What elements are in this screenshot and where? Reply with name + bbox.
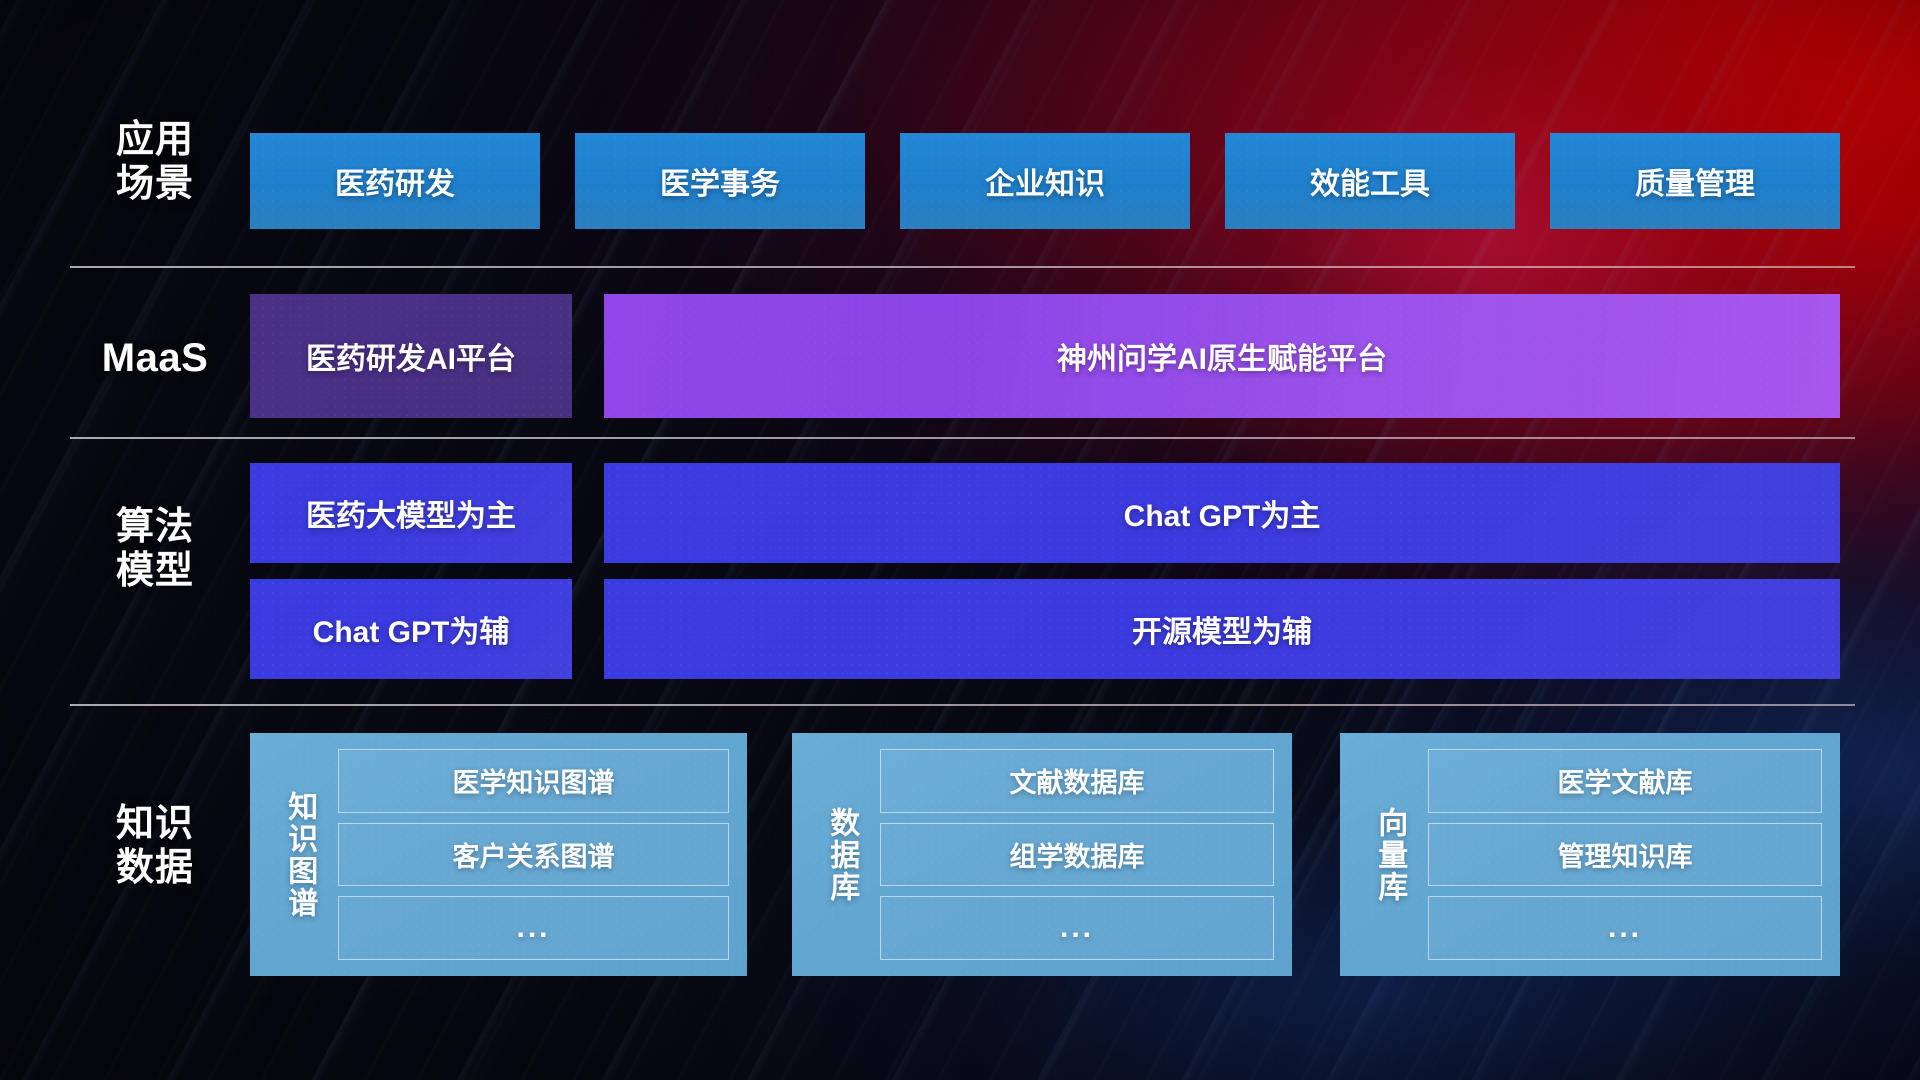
maas-box-medicine-rnd-ai-platform[interactable]: 医药研发AI平台 [250, 294, 572, 418]
maas-box-label: 神州问学AI原生赋能平台 [1057, 334, 1387, 378]
app-box-label: 医药研发 [335, 159, 455, 203]
algo-box-label: 医药大模型为主 [306, 491, 516, 535]
app-box-quality-management[interactable]: 质量管理 [1550, 133, 1840, 229]
knowledge-group-vector-store[interactable]: 向量库 医学文献库 管理知识库 ... [1340, 733, 1840, 976]
knowledge-group-title: 数据库 [810, 807, 872, 903]
app-box-medicine-rnd[interactable]: 医药研发 [250, 133, 540, 229]
row-label-knowledge-data: 知识 数据 [70, 802, 240, 890]
knowledge-item-more[interactable]: ... [338, 896, 729, 960]
algo-box-label: Chat GPT为辅 [313, 607, 510, 651]
app-box-label: 质量管理 [1635, 159, 1755, 203]
algo-box-label: Chat GPT为主 [1124, 491, 1321, 535]
knowledge-group-item-list: 文献数据库 组学数据库 ... [880, 743, 1278, 966]
maas-box-shenzhou-wenxue-platform[interactable]: 神州问学AI原生赋能平台 [604, 294, 1840, 418]
knowledge-item-more[interactable]: ... [1428, 896, 1822, 960]
knowledge-item[interactable]: 文献数据库 [880, 749, 1274, 813]
row-label-algorithm-models: 算法 模型 [70, 505, 240, 593]
algo-box-medicine-large-model-primary[interactable]: 医药大模型为主 [250, 463, 572, 563]
app-box-enterprise-knowledge[interactable]: 企业知识 [900, 133, 1190, 229]
algo-box-opensource-model-secondary[interactable]: 开源模型为辅 [604, 579, 1840, 679]
app-box-label: 企业知识 [985, 159, 1105, 203]
knowledge-item[interactable]: 医学知识图谱 [338, 749, 729, 813]
knowledge-item[interactable]: 客户关系图谱 [338, 823, 729, 887]
knowledge-group-knowledge-graph[interactable]: 知识图谱 医学知识图谱 客户关系图谱 ... [250, 733, 747, 976]
app-box-medical-affairs[interactable]: 医学事务 [575, 133, 865, 229]
knowledge-item[interactable]: 医学文献库 [1428, 749, 1822, 813]
knowledge-group-database[interactable]: 数据库 文献数据库 组学数据库 ... [792, 733, 1292, 976]
app-box-label: 医学事务 [660, 159, 780, 203]
algo-box-label: 开源模型为辅 [1132, 607, 1312, 651]
algo-box-chatgpt-secondary[interactable]: Chat GPT为辅 [250, 579, 572, 679]
app-box-label: 效能工具 [1310, 159, 1430, 203]
knowledge-group-item-list: 医学文献库 管理知识库 ... [1428, 743, 1826, 966]
algo-box-chatgpt-primary[interactable]: Chat GPT为主 [604, 463, 1840, 563]
app-box-efficiency-tools[interactable]: 效能工具 [1225, 133, 1515, 229]
divider-after-maas [70, 437, 1855, 439]
divider-after-algorithm-models [70, 704, 1855, 706]
divider-after-application-scenarios [70, 266, 1855, 268]
knowledge-item[interactable]: 组学数据库 [880, 823, 1274, 887]
row-label-application-scenarios: 应用 场景 [70, 118, 240, 206]
knowledge-group-item-list: 医学知识图谱 客户关系图谱 ... [338, 743, 733, 966]
maas-box-label: 医药研发AI平台 [306, 334, 516, 378]
row-label-maas: MaaS [70, 335, 240, 381]
knowledge-item-more[interactable]: ... [880, 896, 1274, 960]
knowledge-item[interactable]: 管理知识库 [1428, 823, 1822, 887]
knowledge-group-title: 知识图谱 [268, 791, 330, 919]
knowledge-group-title: 向量库 [1358, 807, 1420, 903]
diagram-canvas: 应用 场景 医药研发 医学事务 企业知识 效能工具 质量管理 MaaS 医药研发… [0, 0, 1920, 1080]
